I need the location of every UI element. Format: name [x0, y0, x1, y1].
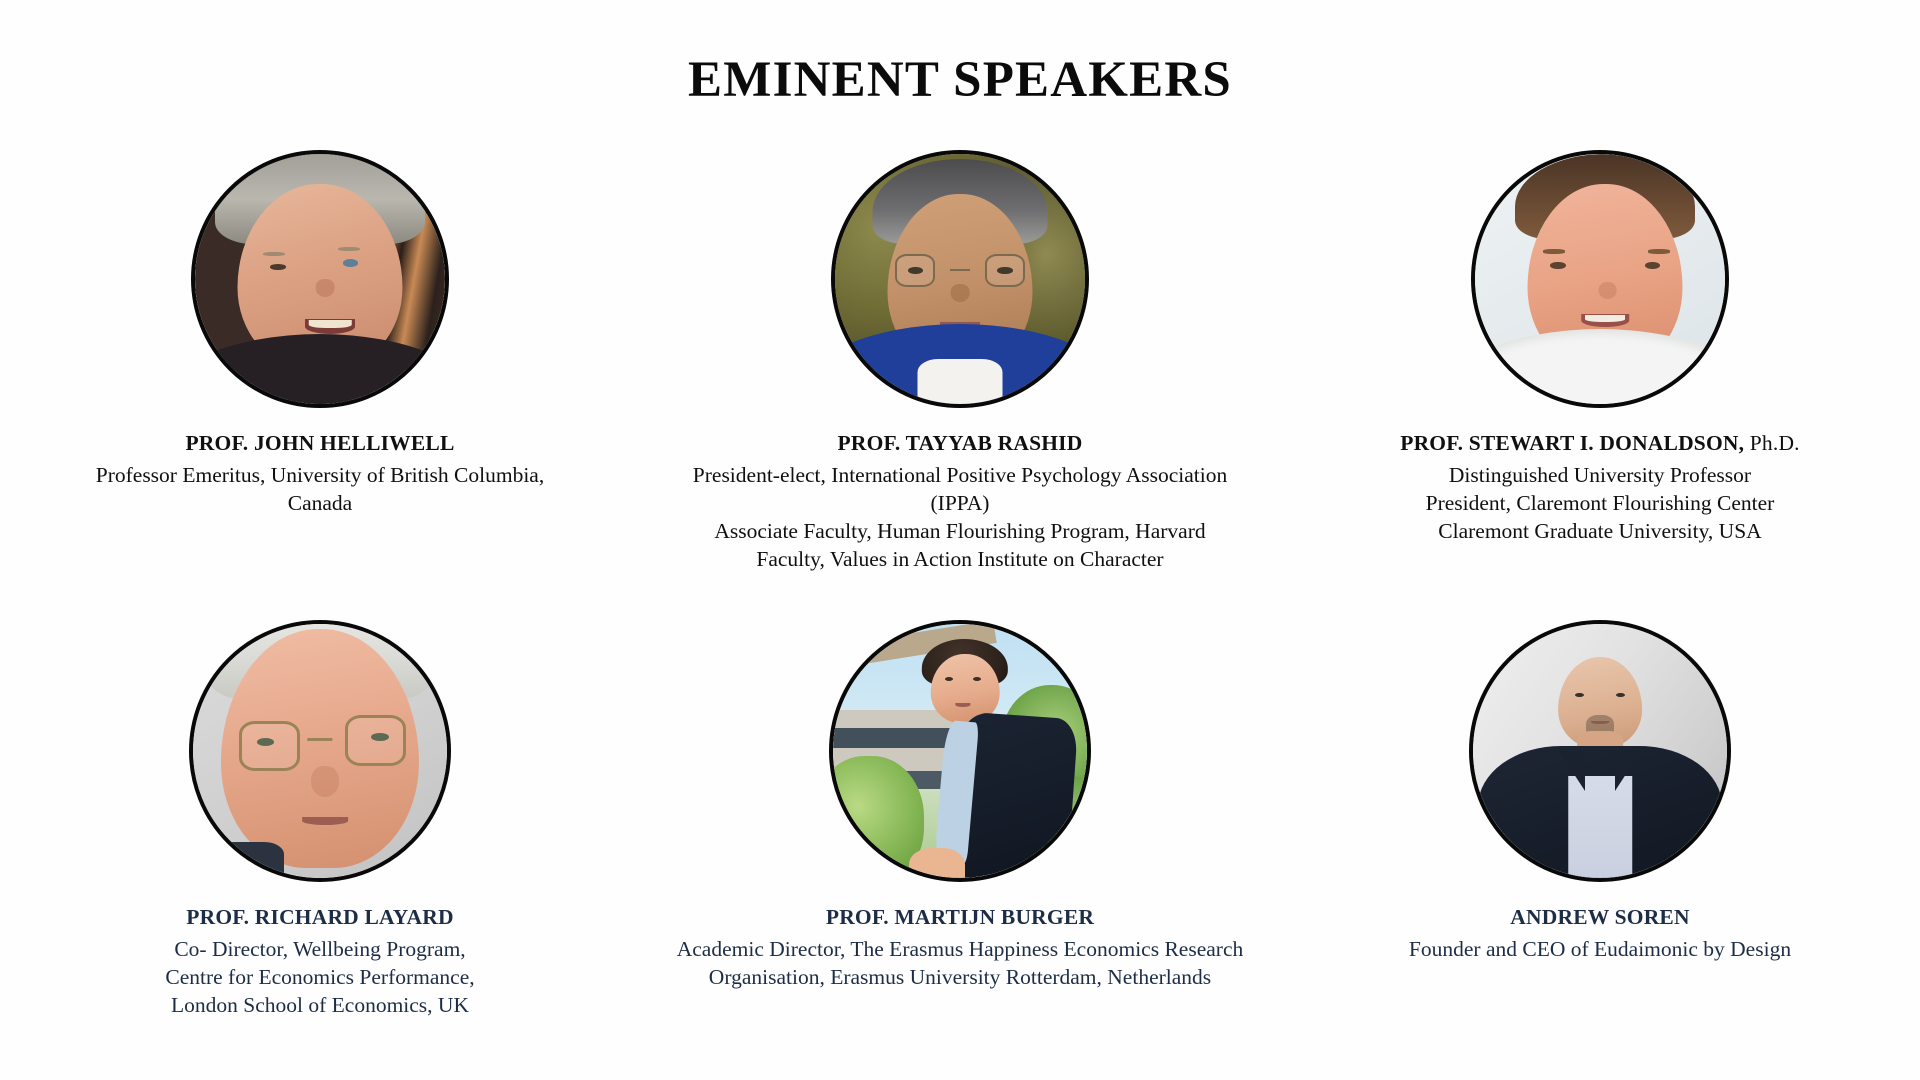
- speaker-name: ANDREW SOREN: [1409, 904, 1791, 932]
- portrait-andrew-soren: [1469, 620, 1731, 882]
- caption-stewart-donaldson: PROF. STEWART I. DONALDSON, Ph.D. Distin…: [1400, 430, 1800, 546]
- speaker-affiliation: Co- Director, Wellbeing Program, Centre …: [165, 936, 474, 1020]
- portrait-tayyab-rashid: [831, 150, 1089, 408]
- speaker-card-stewart-donaldson: PROF. STEWART I. DONALDSON, Ph.D. Distin…: [1280, 150, 1920, 620]
- portrait-martijn-burger: [829, 620, 1091, 882]
- caption-john-helliwell: PROF. JOHN HELLIWELL Professor Emeritus,…: [96, 430, 544, 518]
- speaker-name: PROF. TAYYAB RASHID: [693, 430, 1227, 458]
- speaker-affiliation: Founder and CEO of Eudaimonic by Design: [1409, 936, 1791, 964]
- speaker-card-tayyab-rashid: PROF. TAYYAB RASHID President-elect, Int…: [640, 150, 1280, 620]
- slide-root: EMINENT SPEAKERS: [0, 0, 1920, 1080]
- caption-martijn-burger: PROF. MARTIJN BURGER Academic Director, …: [677, 904, 1244, 992]
- speaker-affiliation: President-elect, International Positive …: [693, 462, 1227, 574]
- speaker-card-martijn-burger: PROF. MARTIJN BURGER Academic Director, …: [640, 620, 1280, 1080]
- speaker-affiliation: Professor Emeritus, University of Britis…: [96, 462, 544, 518]
- speaker-name: PROF. JOHN HELLIWELL: [96, 430, 544, 458]
- speaker-name: PROF. STEWART I. DONALDSON, Ph.D.: [1400, 430, 1800, 458]
- speaker-card-john-helliwell: PROF. JOHN HELLIWELL Professor Emeritus,…: [0, 150, 640, 620]
- speaker-name: PROF. RICHARD LAYARD: [165, 904, 474, 932]
- speaker-card-richard-layard: PROF. RICHARD LAYARD Co- Director, Wellb…: [0, 620, 640, 1080]
- portrait-john-helliwell: [191, 150, 449, 408]
- speaker-name: PROF. MARTIJN BURGER: [677, 904, 1244, 932]
- caption-tayyab-rashid: PROF. TAYYAB RASHID President-elect, Int…: [693, 430, 1227, 574]
- speaker-affiliation: Distinguished University Professor Presi…: [1400, 462, 1800, 546]
- speaker-affiliation: Academic Director, The Erasmus Happiness…: [677, 936, 1244, 992]
- page-title: EMINENT SPEAKERS: [0, 52, 1920, 108]
- speakers-grid: PROF. JOHN HELLIWELL Professor Emeritus,…: [0, 150, 1920, 1080]
- caption-andrew-soren: ANDREW SOREN Founder and CEO of Eudaimon…: [1409, 904, 1791, 964]
- caption-richard-layard: PROF. RICHARD LAYARD Co- Director, Wellb…: [165, 904, 474, 1020]
- portrait-stewart-donaldson: [1471, 150, 1729, 408]
- speaker-card-andrew-soren: ANDREW SOREN Founder and CEO of Eudaimon…: [1280, 620, 1920, 1080]
- portrait-richard-layard: [189, 620, 451, 882]
